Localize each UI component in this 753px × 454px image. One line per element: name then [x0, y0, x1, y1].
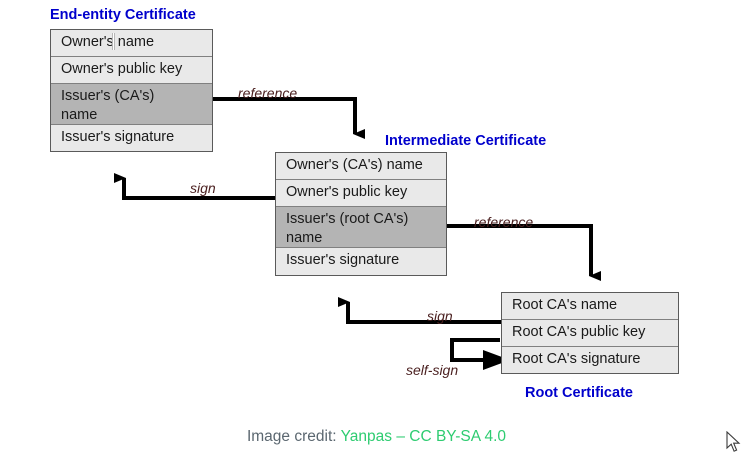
cert-field-owner-name[interactable]: Owner's name — [51, 30, 212, 57]
image-credit: Image credit: Yanpas – CC BY-SA 4.0 — [0, 428, 753, 446]
cert-field-root-ca-name[interactable]: Root CA's name — [502, 293, 678, 320]
cert-field-owner-ca-name[interactable]: Owner's (CA's) name — [276, 153, 446, 180]
relation-label-sign-intermediate-to-end: sign — [190, 180, 216, 196]
cert-field-issuer-signature[interactable]: Issuer's signature — [276, 248, 446, 275]
relation-label-reference-intermediate-to-root: reference — [474, 214, 533, 230]
cert-field-owner-public-key[interactable]: Owner's public key — [51, 57, 212, 84]
text-caret — [113, 33, 114, 50]
certificate-chain-diagram: End-entity Certificate Owner's name Owne… — [0, 0, 753, 454]
cert-field-root-ca-public-key[interactable]: Root CA's public key — [502, 320, 678, 347]
relation-label-self-sign-root: self-sign — [406, 362, 458, 378]
arrow-reference-end-to-intermediate — [211, 99, 355, 134]
certificate-box-root[interactable]: Root CA's name Root CA's public key Root… — [501, 292, 679, 374]
cert-title-root: Root Certificate — [525, 385, 633, 401]
cert-field-issuer-root-ca-name[interactable]: Issuer's (root CA's) name — [276, 207, 446, 248]
image-credit-prefix: Image credit: — [247, 428, 341, 445]
cert-title-end-entity: End-entity Certificate — [50, 7, 196, 23]
image-credit-link[interactable]: Yanpas – CC BY-SA 4.0 — [341, 428, 506, 445]
arrow-sign-root-to-intermediate — [348, 302, 501, 322]
cert-field-issuer-signature[interactable]: Issuer's signature — [51, 125, 212, 151]
certificate-box-intermediate[interactable]: Owner's (CA's) name Owner's public key I… — [275, 152, 447, 276]
arrow-reference-intermediate-to-root — [447, 226, 591, 276]
relation-label-reference-end-to-intermediate: reference — [238, 85, 297, 101]
cert-field-root-ca-signature[interactable]: Root CA's signature — [502, 347, 678, 373]
certificate-box-end-entity[interactable]: Owner's name Owner's public key Issuer's… — [50, 29, 213, 152]
cert-title-intermediate: Intermediate Certificate — [385, 133, 546, 149]
relation-label-sign-root-to-intermediate: sign — [427, 308, 453, 324]
cert-field-issuer-name[interactable]: Issuer's (CA's) name — [51, 84, 212, 125]
mouse-cursor-icon — [726, 431, 742, 453]
cert-field-owner-public-key[interactable]: Owner's public key — [276, 180, 446, 207]
